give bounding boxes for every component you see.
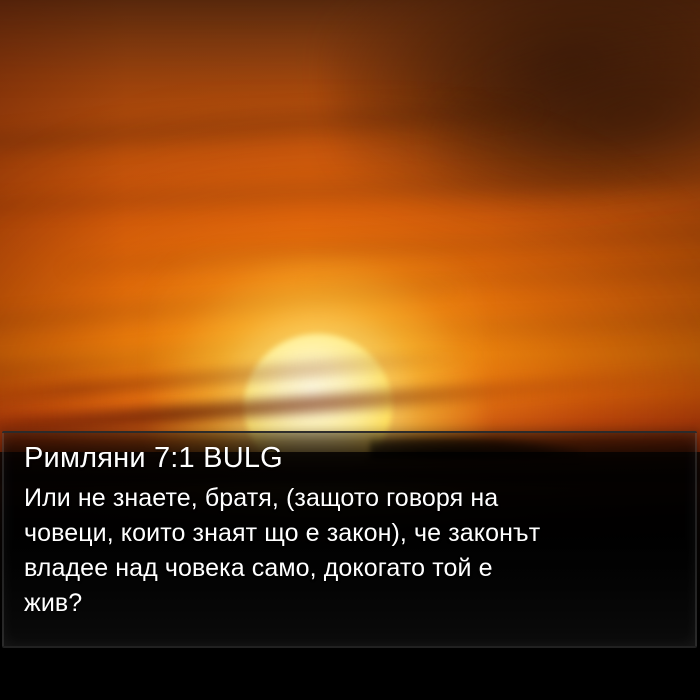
verse-reference: Римляни 7:1 BULG [24, 441, 283, 475]
verse-text-line: жив? [24, 586, 694, 621]
verse-text-line: владее над човека само, докогато той е [24, 551, 694, 586]
verse-text-panel: Римляни 7:1 BULG Или не знаете, братя, (… [2, 431, 697, 648]
verse-text-line: човеци, които знаят що е закон), че зако… [24, 516, 694, 551]
verse-text: Или не знаете, братя, (защото говоря на … [24, 481, 694, 621]
verse-text-line: Или не знаете, братя, (защото говоря на [24, 481, 694, 516]
verse-image-card: Римляни 7:1 BULG Или не знаете, братя, (… [0, 0, 700, 700]
